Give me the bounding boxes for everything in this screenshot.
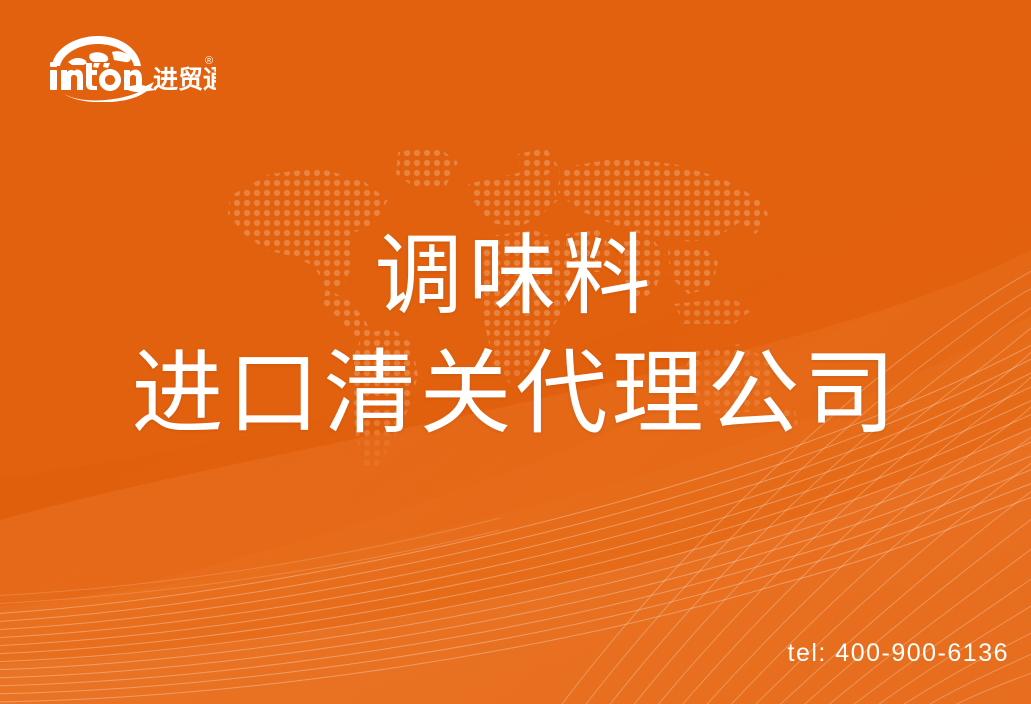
phone-number: tel: 400-900-6136: [788, 639, 1009, 668]
promo-banner: 进贸通 ® 调味料 进口清关代理公司 tel: 400-900-6136: [0, 0, 1031, 704]
globe-dots-icon: [52, 36, 141, 68]
headline-line-2: 进口清关代理公司: [0, 338, 1031, 450]
brand-logo[interactable]: 进贸通 ®: [38, 32, 216, 102]
logo-chinese-name: 进贸通: [153, 66, 216, 94]
headline-line-1: 调味料: [0, 222, 1031, 330]
trademark-symbol: ®: [205, 55, 213, 67]
headline-block: 调味料 进口清关代理公司: [0, 222, 1031, 450]
